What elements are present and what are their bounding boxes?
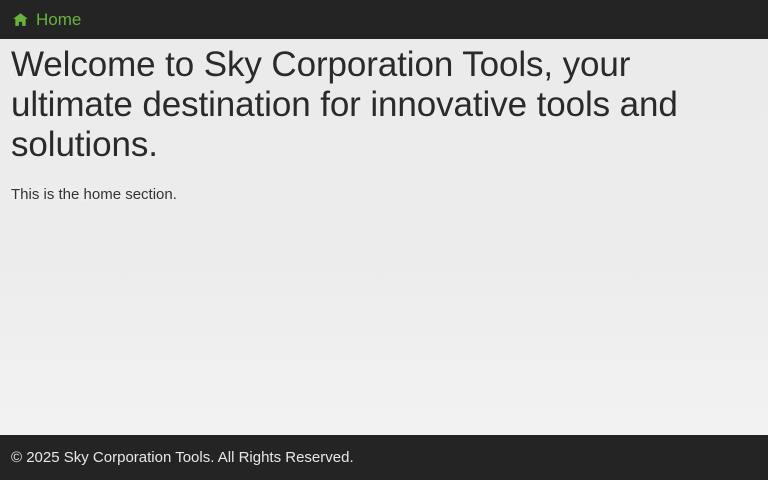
footer-copyright: © 2025 Sky Corporation Tools. All Rights… [11, 449, 354, 467]
app-root: Home Dashboard [0, 0, 768, 480]
nav-item-home-label: Home [36, 11, 81, 28]
main-copy: Welcome to Sky Corporation Tools, your u… [0, 39, 768, 205]
section-description: This is the home section. [11, 165, 754, 205]
footer-bar: © 2025 Sky Corporation Tools. All Rights… [0, 435, 768, 480]
nav-item-home[interactable]: Home [6, 9, 87, 30]
home-icon [12, 11, 29, 28]
page-title: Welcome to Sky Corporation Tools, your u… [11, 39, 754, 165]
content-area: Dashboard Users Trends [0, 39, 768, 435]
top-navbar: Home [0, 0, 768, 39]
